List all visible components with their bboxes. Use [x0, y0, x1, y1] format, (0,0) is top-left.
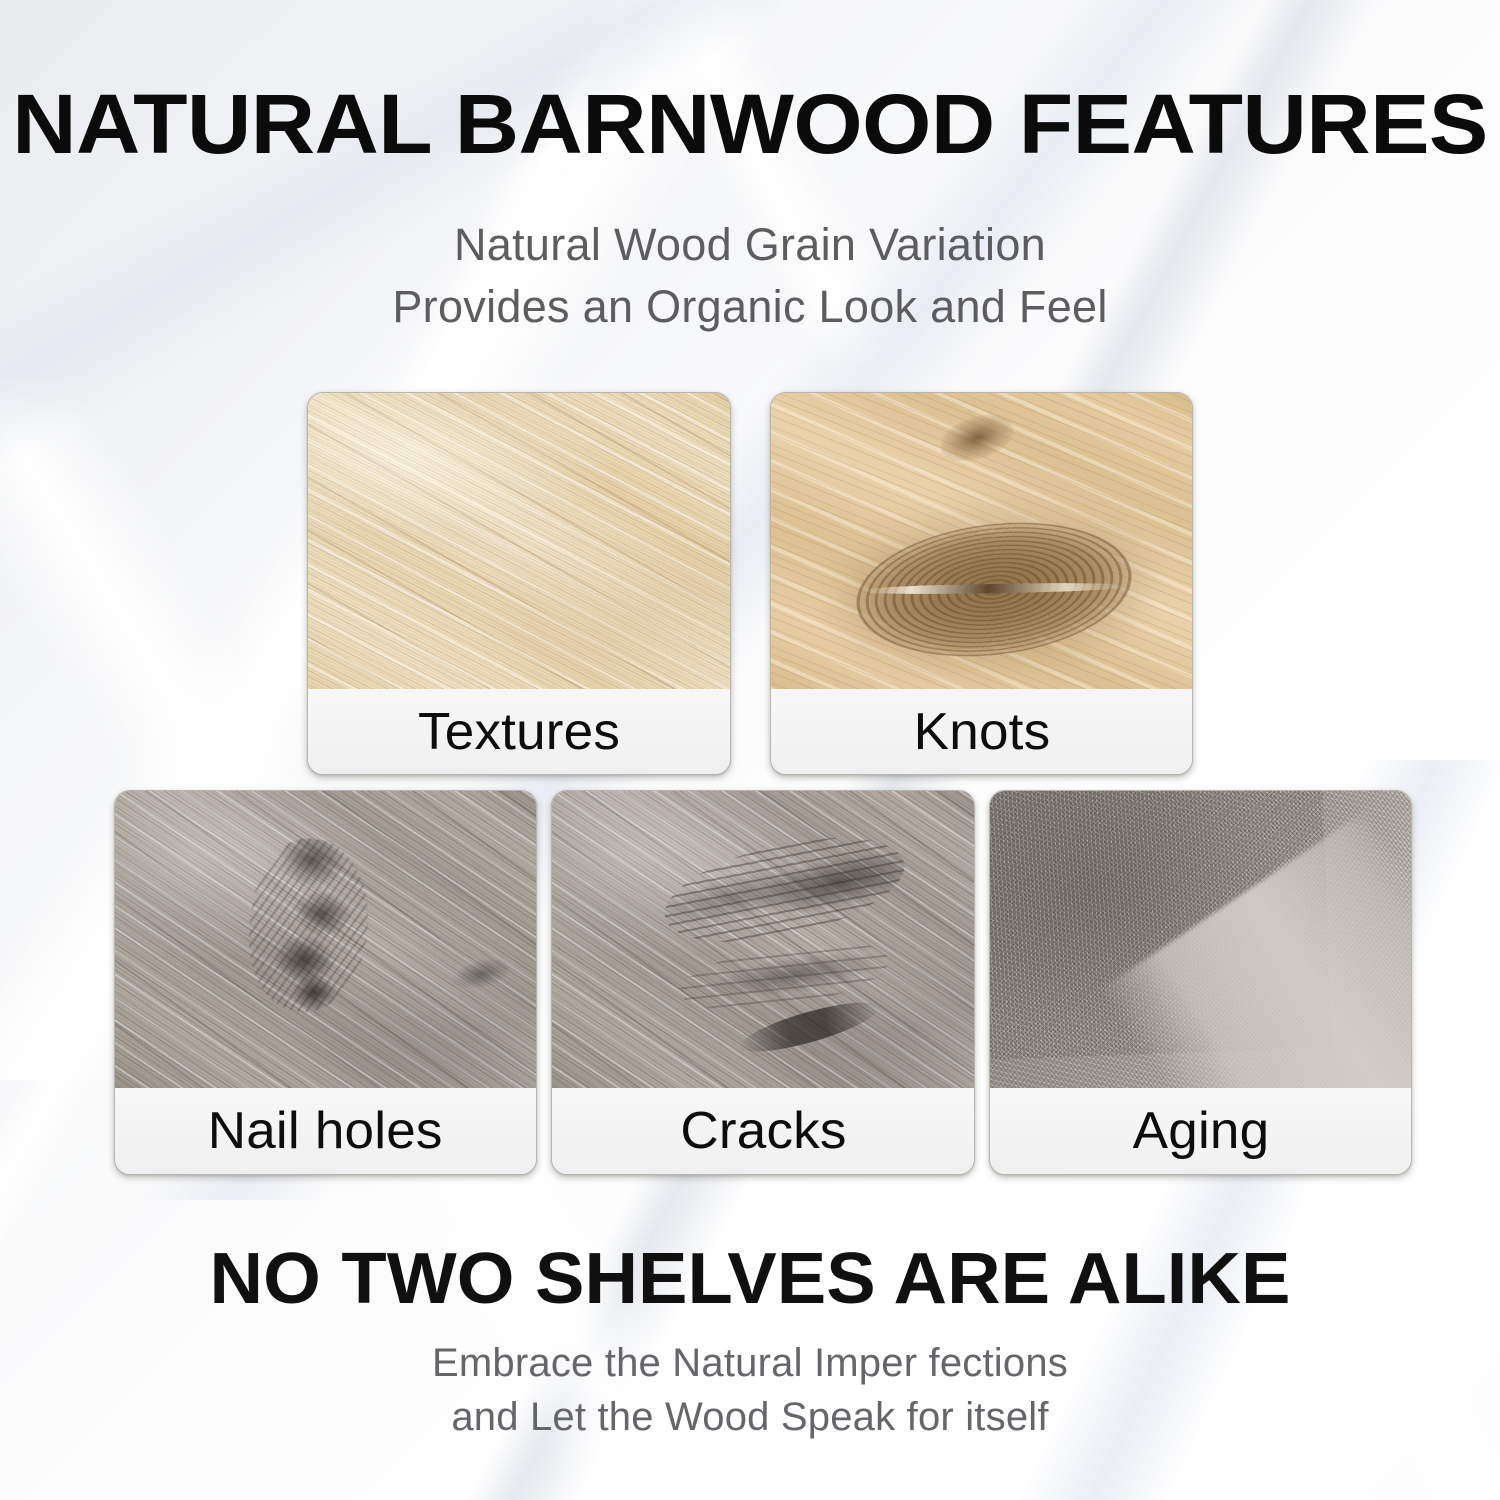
aging-photo — [990, 791, 1411, 1090]
infographic-canvas: NATURAL BARNWOOD FEATURES Natural Wood G… — [0, 0, 1500, 1500]
feature-card-knots: Knots — [770, 392, 1193, 775]
feature-label-nail-holes: Nail holes — [208, 1101, 443, 1161]
feature-label-knots: Knots — [913, 702, 1050, 762]
textures-label-band: Textures — [308, 689, 730, 774]
feature-card-nail-holes: Nail holes — [114, 790, 537, 1175]
knots-label-band: Knots — [771, 689, 1192, 774]
footer-headline: NO TWO SHELVES ARE ALIKE — [0, 1238, 1500, 1320]
cracks-label-band: Cracks — [552, 1088, 974, 1174]
wood-grain-texture — [308, 393, 730, 691]
tagline-line-2: and Let the Wood Speak for itself — [0, 1390, 1500, 1444]
footer-tagline: Embrace the Natural Imper fections and L… — [0, 1336, 1500, 1444]
feature-label-cracks: Cracks — [680, 1101, 846, 1161]
tagline-line-1: Embrace the Natural Imper fections — [0, 1336, 1500, 1390]
nail-holes-photo — [115, 791, 536, 1090]
knots-photo — [771, 393, 1192, 691]
subtitle-line-2: Provides an Organic Look and Feel — [0, 276, 1500, 338]
subtitle-line-1: Natural Wood Grain Variation — [0, 214, 1500, 276]
page-subtitle: Natural Wood Grain Variation Provides an… — [0, 214, 1500, 338]
nail-holes-label-band: Nail holes — [115, 1088, 536, 1174]
textures-photo — [308, 393, 730, 691]
aging-label-band: Aging — [990, 1088, 1411, 1174]
feature-card-aging: Aging — [989, 790, 1412, 1175]
cracks-photo — [552, 791, 974, 1090]
feature-card-textures: Textures — [307, 392, 731, 775]
page-title: NATURAL BARNWOOD FEATURES — [0, 76, 1500, 173]
feature-card-cracks: Cracks — [551, 790, 975, 1175]
feature-label-aging: Aging — [1132, 1101, 1269, 1161]
feature-label-textures: Textures — [418, 702, 620, 762]
